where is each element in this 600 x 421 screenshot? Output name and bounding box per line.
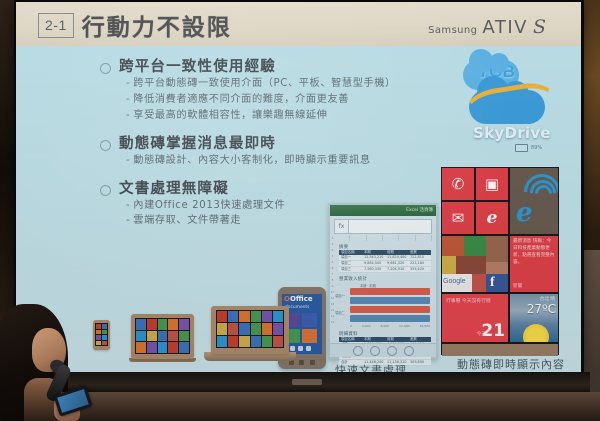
axis-tick: 4,000	[362, 324, 371, 328]
battery-icon: 89%	[515, 144, 542, 152]
start-button[interactable]	[299, 360, 304, 365]
skydrive-graphic: 7GB SkyDrive 89%	[463, 60, 573, 156]
bullet-sub: -降低消費者適應不同介面的難度，介面更友善	[126, 92, 460, 108]
bullet-sub-text: 動態磚設計、內容大小客制化，即時顯示重要訊息	[133, 155, 370, 166]
mail-icon: ✉	[442, 202, 474, 234]
maps-tile[interactable]	[442, 344, 558, 356]
office-tile-row	[290, 346, 311, 351]
axis-tick: 0	[350, 324, 352, 328]
office-title-text: Office	[290, 295, 313, 303]
news-tile[interactable]: 最新消息 快報：今日科技產業動態更新，點選查看完整內容。 新聞	[510, 236, 558, 292]
windows-phone-device	[93, 320, 110, 350]
table-cell: 12,543,210	[362, 255, 385, 260]
bar-series-2	[350, 315, 430, 322]
bar-series-2	[350, 297, 430, 304]
battery-label: 89%	[531, 145, 542, 151]
bullet-sub-text: 跨平台動態磚一致使用介面（PC、平板、智慧型手機）	[133, 78, 396, 89]
search-icon[interactable]	[370, 346, 380, 356]
bullet-heading: 文書處理無障礙	[119, 180, 229, 198]
excel-status-bar	[330, 343, 436, 357]
excel-table-1: 項目名稱 本期 前期 差異 項目一 12,543,210 11,820,400 …	[339, 250, 431, 273]
device-lineup-graphic	[71, 302, 286, 372]
table-cell: 9,661,320	[385, 261, 408, 266]
news-body: 最新消息 快報：今日科技產業動態更新，點選查看完整內容。	[513, 239, 555, 267]
projection-screen: 2-1 行動力不設限 Samsung ATIV S 跨平台一致性使用經驗	[16, 2, 581, 374]
chart-category-label: 項目二	[335, 310, 345, 315]
table-cell: 7,560,330	[362, 267, 385, 272]
internet-explorer-icon: e	[476, 202, 508, 234]
calendar-tile[interactable]: 行事曆 今天沒有行程 今天 21	[442, 294, 508, 342]
slide-header-band: 2-1 行動力不設限 Samsung ATIV S	[16, 2, 581, 46]
column-headers	[334, 235, 432, 241]
screen-knob	[292, 379, 322, 385]
bullet-sub-text: 內建Office 2013快速處理文件	[133, 200, 285, 211]
internet-explorer-icon: e	[516, 198, 533, 228]
slide-number-badge: 2-1	[38, 13, 74, 38]
bullet-heading: 動態磚掌握消息最即時	[119, 135, 276, 153]
samsung-ativ-logo: Samsung ATIV S	[428, 16, 546, 38]
axis-tick: 12,000	[399, 324, 410, 328]
table-cell: 9,884,500	[362, 261, 385, 266]
google-logo: Google	[443, 278, 466, 285]
brand-product: ATIV	[482, 17, 528, 38]
windows-phone-live-tiles: ✆ ▣ ✉ e e	[441, 167, 559, 355]
excel-ribbon-label: Excel 活頁簿	[406, 207, 433, 213]
table-cell: 項目二	[339, 261, 362, 266]
table-cell: 355,420	[408, 267, 431, 272]
news-label: 新聞	[513, 283, 522, 289]
windows-tablet-device	[131, 314, 194, 359]
table-row: 項目三 7,560,330 7,204,910 355,420	[339, 267, 431, 273]
ie-tile[interactable]: e	[476, 202, 508, 234]
office-tile[interactable]	[302, 313, 317, 327]
presentation-slide: 2-1 行動力不設限 Samsung ATIV S 跨平台一致性使用經驗	[16, 2, 581, 374]
bullet-sub-text: 享受最高的軟體相容性，讓樂趣無線延伸	[133, 110, 327, 121]
table-cell: 722,810	[408, 255, 431, 260]
row-headers: 123456789101112131415	[330, 235, 335, 344]
windows-start-screen	[216, 310, 284, 348]
office-tile[interactable]	[302, 329, 317, 343]
calendar-summary: 行事曆 今天沒有行程	[446, 298, 491, 306]
fx-icon[interactable]: fx	[334, 219, 349, 234]
bullet-sub-text: 雲端存取、文件帶著走	[133, 215, 241, 226]
brand-suffix: S	[533, 16, 546, 38]
axis-tick: 16,000	[419, 324, 430, 328]
phone-icon: ✆	[442, 168, 474, 200]
chart-x-axis: 0 4,000 8,000 12,000 16,000	[350, 324, 430, 328]
share-icon[interactable]	[387, 346, 397, 356]
facebook-icon: f	[490, 275, 495, 291]
bullet-circle-icon	[100, 140, 111, 151]
mail-tile[interactable]: ✉	[442, 202, 474, 234]
more-icon[interactable]	[404, 346, 414, 356]
bullet-sub: -動態磚設計、內容大小客制化，即時顯示重要訊息	[126, 153, 460, 169]
axis-tick: 8,000	[380, 324, 389, 328]
bullet-group-1: 跨平台一致性使用經驗 -跨平台動態磚一致使用介面（PC、平板、智慧型手機） -降…	[100, 58, 460, 124]
bullet-sub-text: 降低消費者適應不同介面的難度，介面更友善	[133, 94, 349, 105]
photos-tile[interactable]: Google f	[442, 236, 508, 292]
photo-of-projected-slide: 2-1 行動力不設限 Samsung ATIV S 跨平台一致性使用經驗	[0, 0, 600, 421]
phone-tile[interactable]: ✆	[442, 168, 474, 200]
home-icon[interactable]	[353, 346, 363, 356]
weather-temperature: 27ºC	[527, 302, 556, 316]
table-cell: 223,180	[408, 261, 431, 266]
bullet-sub: -享受最高的軟體相容性，讓樂趣無線延伸	[126, 108, 460, 124]
excel-section-2: 營業收入統計	[339, 276, 367, 282]
bar-series-1	[350, 306, 430, 313]
page-title: 行動力不設限	[82, 8, 232, 42]
table-cell: 項目三	[339, 267, 362, 272]
presenter-silhouette	[0, 300, 86, 421]
bullet-sub: -跨平台動態磚一致使用介面（PC、平板、智慧型手機）	[126, 76, 460, 92]
windows-laptop-device	[211, 306, 289, 354]
table-cell: 項目一	[339, 255, 362, 260]
search-button[interactable]	[310, 360, 315, 365]
office-title: OOffice	[284, 295, 313, 303]
bullet-group-2: 動態磚掌握消息最即時 -動態磚設計、內容大小客制化，即時顯示重要訊息	[100, 135, 460, 169]
weather-tile[interactable]: 台北 晴 27ºC	[510, 294, 558, 342]
chart-group-2	[350, 306, 430, 324]
windows-start-screen	[135, 318, 190, 354]
message-icon: ▣	[476, 168, 508, 200]
caption-line-1: 動態磚即時顯示內容	[436, 358, 586, 373]
excel-tablet-screenshot: Excel 活頁簿 fx 123456789101112131415 摘要 項目…	[328, 203, 438, 359]
brand-company: Samsung	[428, 25, 477, 36]
windows-start-screen	[95, 323, 108, 346]
table-cell: 7,204,910	[385, 267, 408, 272]
chart-category-label: 項目一	[335, 293, 345, 298]
bullet-circle-icon	[100, 185, 111, 196]
wifi-browser-tile[interactable]: e	[510, 168, 558, 234]
bar-series-1	[350, 288, 430, 295]
table-cell: 11,820,400	[385, 255, 408, 260]
bullet-circle-icon	[100, 63, 111, 74]
calendar-day-number: 21	[481, 321, 505, 341]
skydrive-label: SkyDrive	[473, 124, 551, 142]
excel-ribbon: Excel 活頁簿	[330, 205, 436, 216]
chart-group-1	[350, 288, 430, 306]
message-tile[interactable]: ▣	[476, 168, 508, 200]
bullet-heading: 跨平台一致性使用經驗	[119, 58, 276, 76]
